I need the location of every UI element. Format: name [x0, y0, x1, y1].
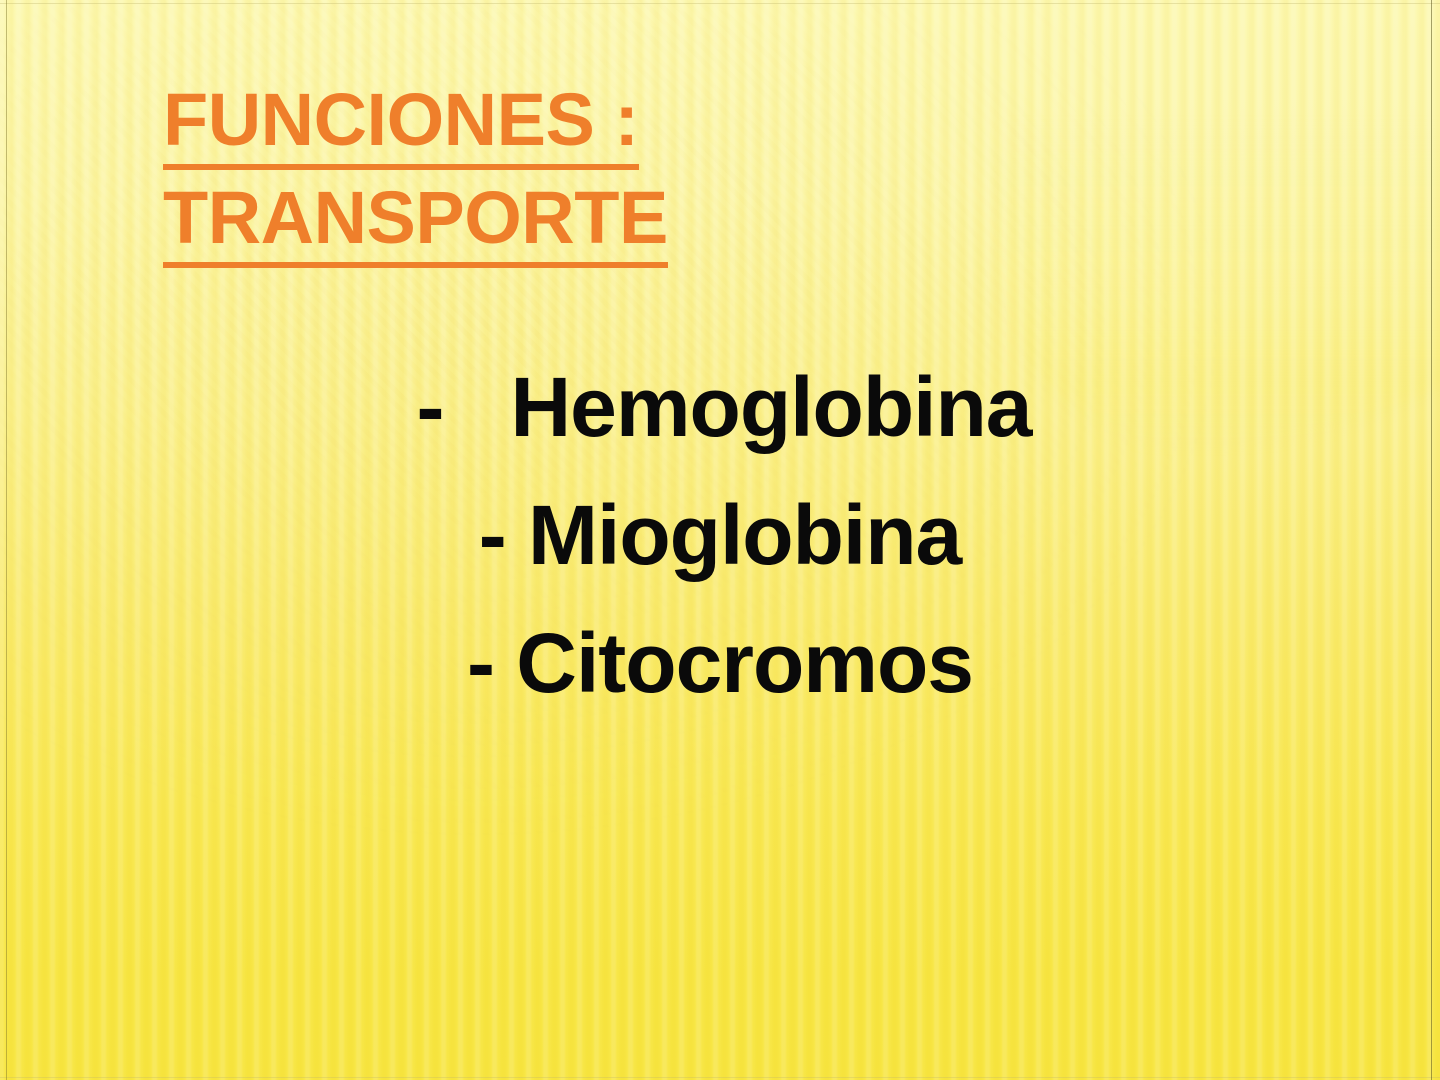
- slide-title-line-1-text: FUNCIONES :: [163, 78, 639, 170]
- bullet-item-mioglobina: - Mioglobina: [0, 471, 1440, 599]
- slide-title-line-2: TRANSPORTE: [163, 170, 668, 268]
- slide-title-line-2-text: TRANSPORTE: [163, 176, 668, 268]
- presentation-slide: FUNCIONES : TRANSPORTE - Hemoglobina - M…: [0, 0, 1440, 1080]
- slide-title-line-1: FUNCIONES :: [163, 72, 639, 170]
- bullet-item-citocromos: - Citocromos: [0, 599, 1440, 727]
- bullet-list: - Hemoglobina - Mioglobina - Citocromos: [0, 343, 1440, 727]
- slide-content: FUNCIONES : TRANSPORTE - Hemoglobina - M…: [0, 0, 1440, 1080]
- slide-title: FUNCIONES : TRANSPORTE: [163, 72, 1063, 268]
- bullet-item-hemoglobina: - Hemoglobina: [0, 343, 1440, 471]
